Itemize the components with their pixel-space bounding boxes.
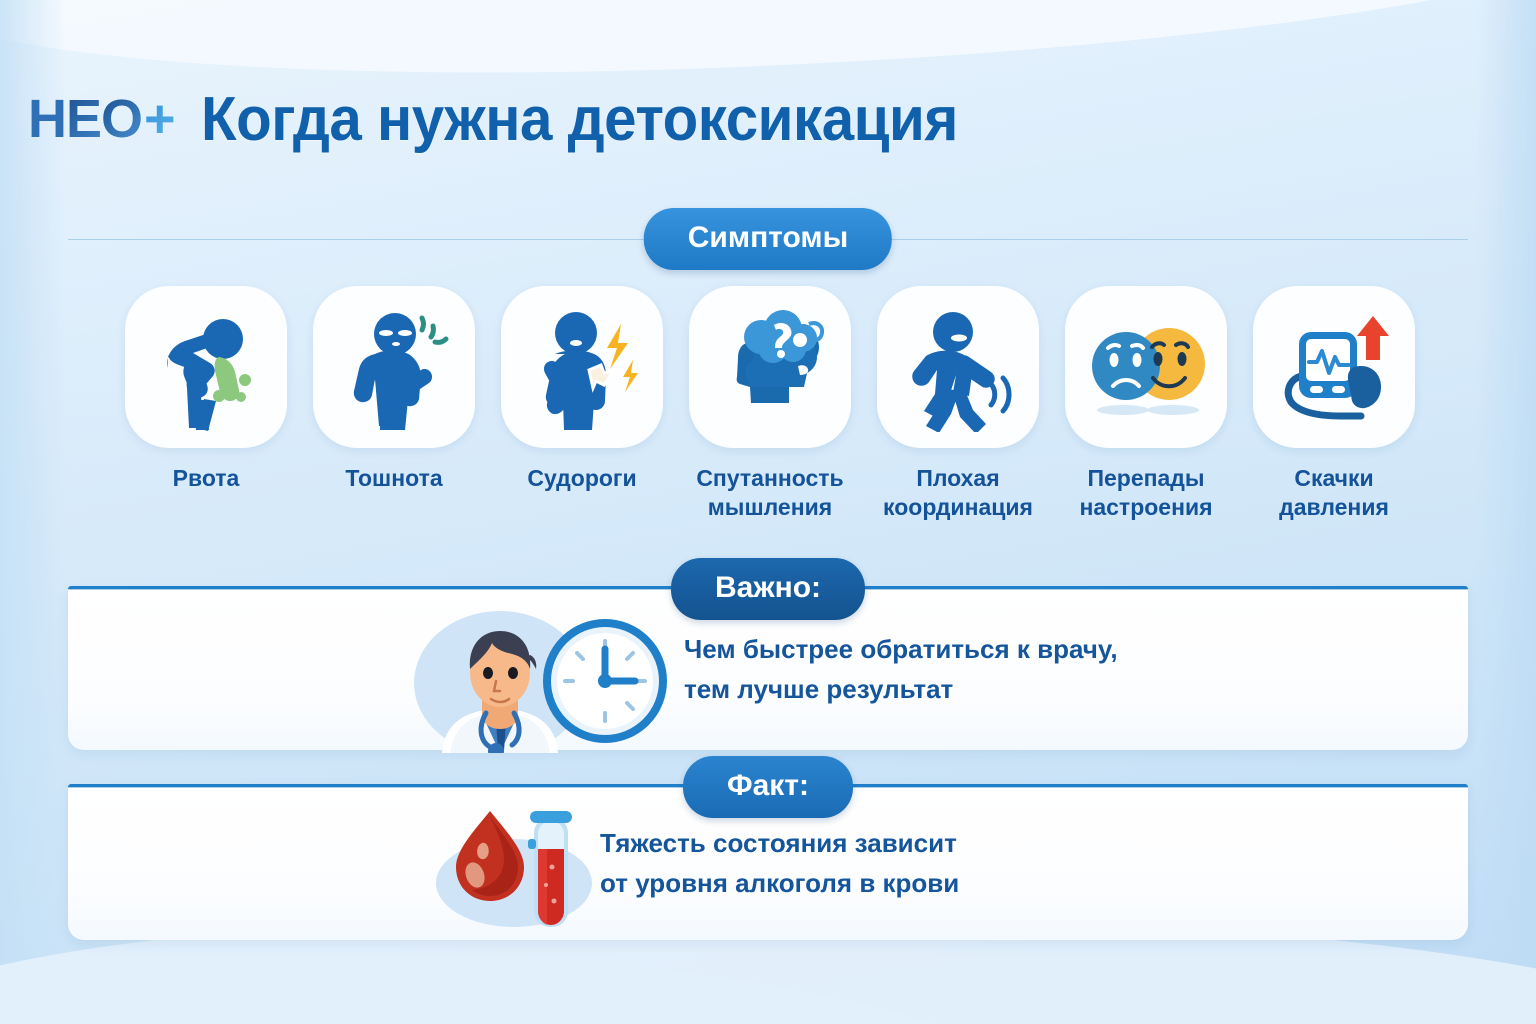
symptom-label: Судороги <box>527 464 636 493</box>
background-sweep-top-blue <box>0 0 1019 13</box>
badge-fact: Факт: <box>683 756 853 818</box>
symptom-icon-tile <box>1065 286 1227 448</box>
mood-swings-faces-icon <box>1081 302 1211 432</box>
brand-logo: НЕО+ <box>28 92 175 146</box>
badge-symptoms: Симптомы <box>644 208 892 270</box>
symptom-item-seizures[interactable]: Судороги <box>496 286 668 536</box>
logo-plus-icon: + <box>144 92 175 146</box>
symptom-label: Перепады настроения <box>1060 464 1232 523</box>
header: НЕО+ Когда нужна детоксикация <box>0 76 1536 162</box>
symptom-label: Тошнота <box>345 464 442 493</box>
vomiting-person-icon <box>141 302 271 432</box>
seizure-person-icon <box>517 302 647 432</box>
symptom-item-nausea[interactable]: Тошнота <box>308 286 480 536</box>
symptom-icon-tile <box>1253 286 1415 448</box>
doctor-with-clock-illustration <box>390 603 670 753</box>
symptom-icon-tile <box>125 286 287 448</box>
symptom-icon-tile <box>877 286 1039 448</box>
fact-card-text: Тяжесть состояния зависит от уровня алко… <box>600 824 959 903</box>
symptom-item-blood-pressure[interactable]: Скачки давления <box>1248 286 1420 536</box>
symptom-item-confusion[interactable]: Спутанность мышления <box>684 286 856 536</box>
infographic-canvas: НЕО+ Когда нужна детоксикация Симптомы <box>0 0 1536 1024</box>
background-sweep-bottom-blue <box>0 927 1080 1024</box>
symptom-item-coordination[interactable]: Плохая координация <box>872 286 1044 536</box>
symptom-label: Спутанность мышления <box>684 464 856 523</box>
symptom-icon-tile <box>689 286 851 448</box>
symptom-label: Рвота <box>173 464 240 493</box>
logo-letter-n: Н <box>28 92 66 146</box>
blood-drop-test-tube-illustration <box>428 797 628 937</box>
confused-head-icon <box>705 302 835 432</box>
symptom-label: Скачки давления <box>1248 464 1420 523</box>
logo-letter-o: О <box>101 92 142 146</box>
logo-letter-e: Е <box>66 92 101 146</box>
symptom-icon-tile <box>313 286 475 448</box>
page-title: Когда нужна детоксикация <box>201 84 958 155</box>
symptom-item-vomiting[interactable]: Рвота <box>120 286 292 536</box>
symptom-label: Плохая координация <box>872 464 1044 523</box>
blood-test-svg <box>428 797 628 937</box>
blood-pressure-monitor-icon <box>1269 302 1399 432</box>
symptom-icon-tile <box>501 286 663 448</box>
badge-important: Важно: <box>671 558 865 620</box>
important-card-text: Чем быстрее обратиться к врачу, тем лучш… <box>684 630 1118 709</box>
poor-coordination-icon <box>893 302 1023 432</box>
doctor-clock-svg <box>390 603 670 753</box>
symptoms-list: Рвота <box>120 286 1420 536</box>
nausea-person-icon <box>329 302 459 432</box>
symptom-item-mood-swings[interactable]: Перепады настроения <box>1060 286 1232 536</box>
